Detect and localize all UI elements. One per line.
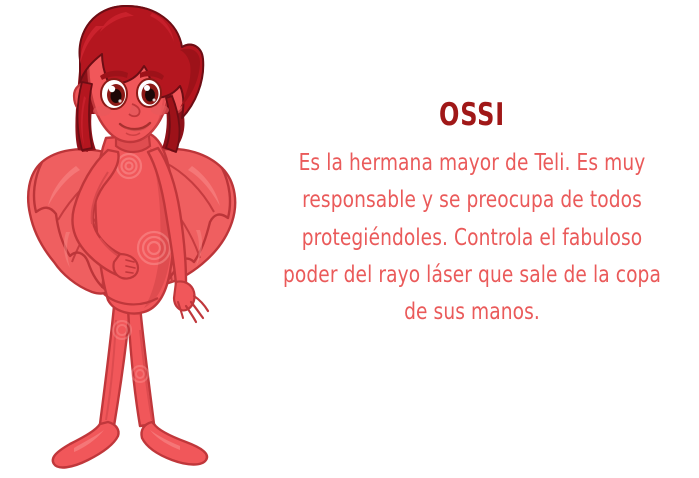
character-description: Es la hermana mayor de Teli. Es muy resp… — [274, 145, 670, 331]
character-artwork-svg — [0, 0, 260, 478]
blush-right — [151, 105, 169, 115]
description-line: poder del rayo láser que sale de la copa — [274, 257, 670, 294]
character-poster: OSSI Es la hermana mayor de Teli. Es muy… — [0, 0, 699, 478]
description-line: responsable y se preocupa de todos — [274, 182, 670, 219]
description-line: Es la hermana mayor de Teli. Es muy — [274, 145, 670, 182]
legs — [53, 306, 207, 467]
character-text-block: OSSI Es la hermana mayor de Teli. Es muy… — [252, 100, 692, 331]
description-line: de sus manos. — [274, 294, 670, 331]
character-name-title: OSSI — [283, 100, 661, 131]
blush-left — [93, 106, 111, 116]
eye-right — [137, 79, 161, 107]
description-line: protegiéndoles. Controla el fabuloso — [274, 220, 670, 257]
eye-left — [101, 79, 127, 109]
character-illustration — [0, 0, 260, 478]
